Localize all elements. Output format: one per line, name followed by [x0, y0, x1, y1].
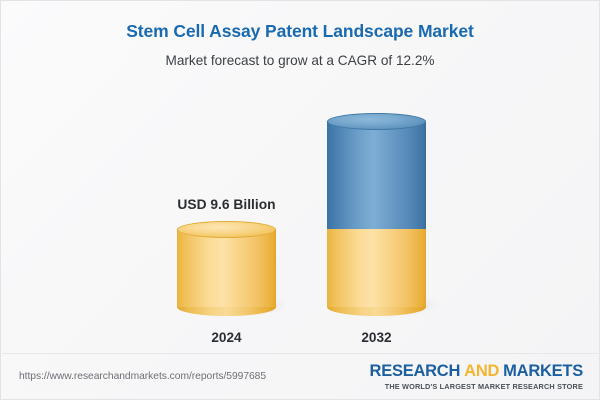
- infographic-chart-card: Stem Cell Assay Patent Landscape Market …: [0, 0, 600, 400]
- cylinder-body: [177, 229, 276, 307]
- cylinder-body: [327, 229, 426, 307]
- bar-group-2032: USD 24 Billion 2032: [327, 121, 426, 307]
- logo-word-research: RESEARCH: [370, 362, 461, 380]
- cylinder-body: [327, 121, 426, 229]
- bar-segment-2024-base: [177, 229, 276, 307]
- bar-segment-2032-growth: [327, 121, 426, 229]
- logo-tagline: THE WORLD'S LARGEST MARKET RESEARCH STOR…: [370, 379, 583, 390]
- cylinder-top-cap: [177, 221, 276, 238]
- cylinder-top-cap: [327, 113, 426, 130]
- logo-word-markets: MARKETS: [503, 362, 583, 380]
- chart-plot-area: USD 9.6 Billion 2024 USD 24 Billion: [1, 1, 600, 353]
- bar-segment-2032-base: [327, 229, 426, 307]
- source-url[interactable]: https://www.researchandmarkets.com/repor…: [19, 371, 266, 382]
- cylinder-2032: USD 24 Billion 2032: [327, 121, 426, 307]
- bar-category-label-2032: 2032: [277, 330, 477, 345]
- bar-group-2024: USD 9.6 Billion 2024: [177, 229, 276, 307]
- chart-footer: https://www.researchandmarkets.com/repor…: [1, 354, 600, 399]
- research-and-markets-logo[interactable]: RESEARCHANDMARKETS THE WORLD'S LARGEST M…: [370, 363, 583, 391]
- logo-wordmark: RESEARCHANDMARKETS: [370, 363, 583, 380]
- logo-word-and: AND: [464, 362, 499, 380]
- cylinder-2024: USD 9.6 Billion 2024: [177, 229, 276, 307]
- bar-value-label-2024: USD 9.6 Billion: [127, 197, 327, 212]
